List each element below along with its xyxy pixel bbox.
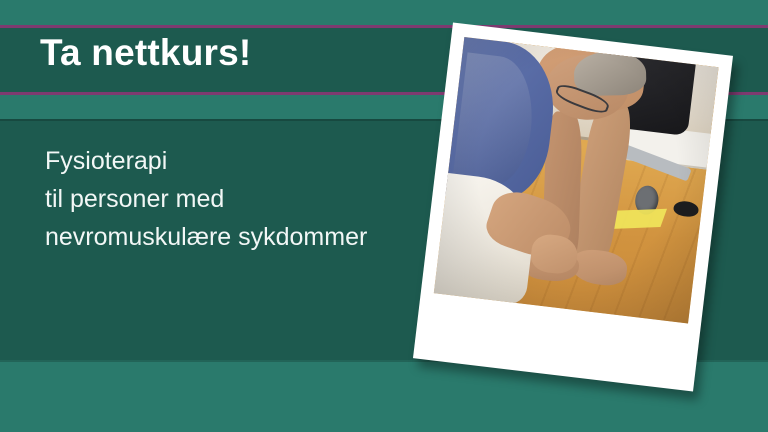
- slide-subtitle: Fysioterapi til personer med nevromuskul…: [45, 142, 367, 256]
- subtitle-line-3: nevromuskulære sykdommer: [45, 218, 367, 256]
- subtitle-line-2: til personer med: [45, 180, 367, 218]
- photo-image: [434, 37, 719, 323]
- slide-headline: Ta nettkurs!: [40, 34, 251, 71]
- band-top-light: [0, 0, 768, 25]
- polaroid-photo: [413, 22, 733, 391]
- subtitle-line-1: Fysioterapi: [45, 142, 367, 180]
- slide-canvas: Ta nettkurs! Fysioterapi til personer me…: [0, 0, 768, 432]
- polaroid-frame: [413, 22, 733, 391]
- photo-vignette: [434, 37, 719, 323]
